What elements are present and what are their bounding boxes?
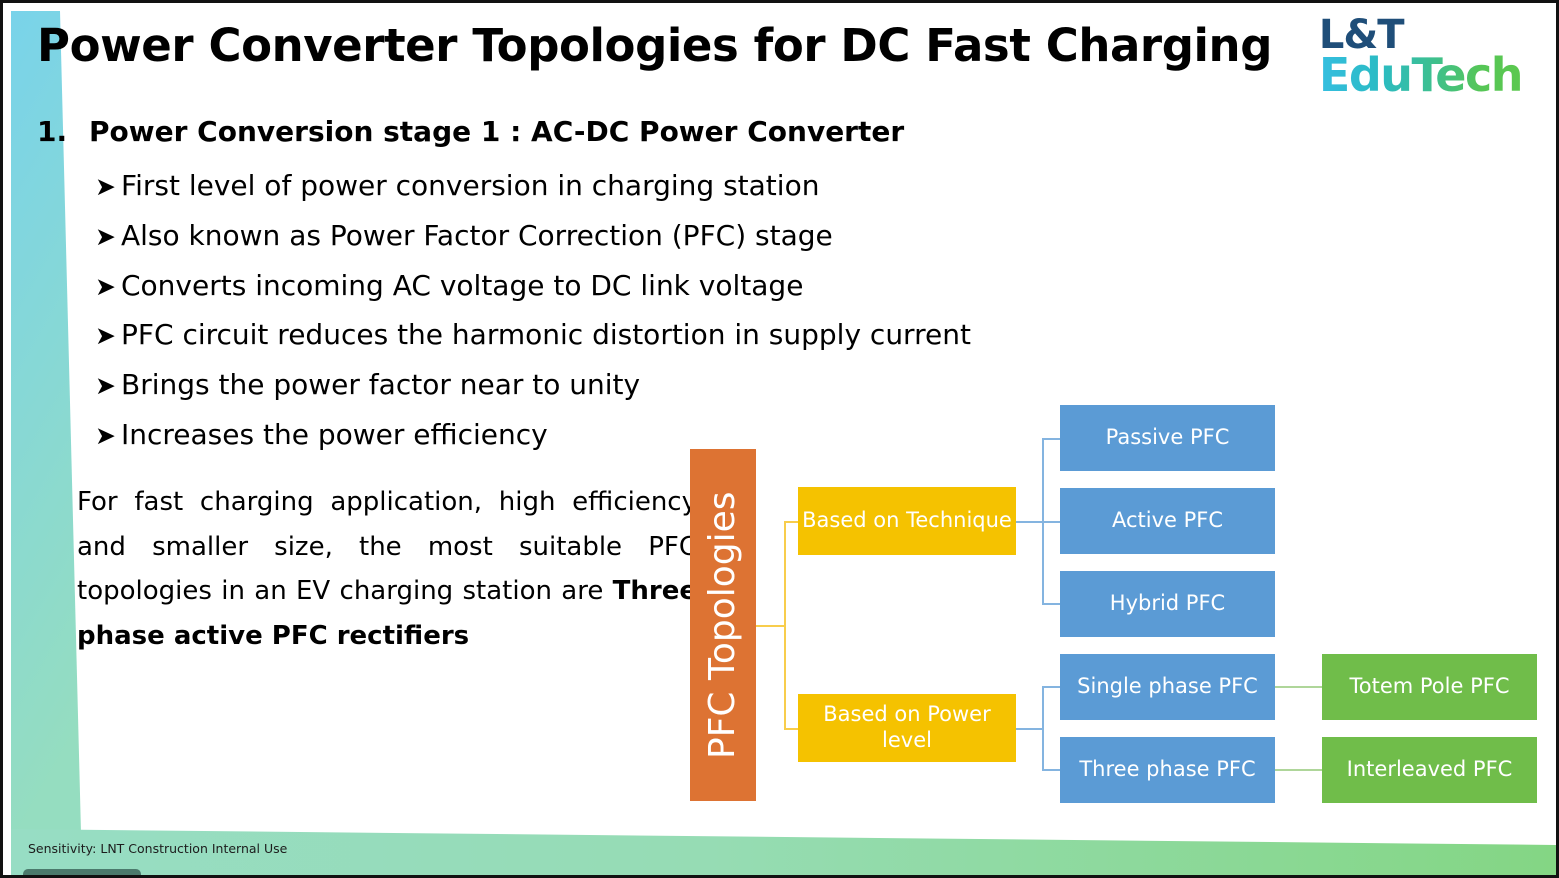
diagram-node-based-on-power-level[interactable]: Based on Power level — [798, 694, 1016, 762]
connector-technique-trunk — [1015, 521, 1043, 523]
diagram-node-single-phase-pfc[interactable]: Single phase PFC — [1060, 654, 1275, 720]
connector-single-to-totem — [1275, 686, 1323, 688]
connector-technique-to-hybrid — [1042, 603, 1062, 605]
taskbar-stub — [23, 869, 141, 878]
diagram-node-root[interactable]: PFC Topologies — [690, 449, 756, 801]
diagram-node-hybrid-pfc[interactable]: Hybrid PFC — [1060, 571, 1275, 637]
connector-technique-to-active — [1042, 521, 1062, 523]
diagram-node-based-on-technique[interactable]: Based on Technique — [798, 487, 1016, 555]
diagram-node-interleaved-pfc[interactable]: Interleaved PFC — [1322, 737, 1537, 803]
sensitivity-footer: Sensitivity: LNT Construction Internal U… — [28, 841, 287, 856]
connector-power-spine — [1042, 686, 1044, 770]
pfc-topologies-diagram: PFC Topologies Based on Technique Based … — [3, 3, 1559, 878]
diagram-node-active-pfc[interactable]: Active PFC — [1060, 488, 1275, 554]
diagram-node-three-phase-pfc[interactable]: Three phase PFC — [1060, 737, 1275, 803]
connector-power-to-single — [1042, 686, 1062, 688]
diagram-node-totem-pole-pfc[interactable]: Totem Pole PFC — [1322, 654, 1537, 720]
connector-power-trunk — [1015, 728, 1043, 730]
presentation-slide: Power Converter Topologies for DC Fast C… — [0, 0, 1559, 878]
diagram-node-passive-pfc[interactable]: Passive PFC — [1060, 405, 1275, 471]
connector-root-spine — [784, 521, 786, 729]
connector-technique-to-passive — [1042, 438, 1062, 440]
connector-root-trunk — [755, 625, 785, 627]
connector-power-to-three — [1042, 769, 1062, 771]
connector-three-to-interleaved — [1275, 769, 1323, 771]
